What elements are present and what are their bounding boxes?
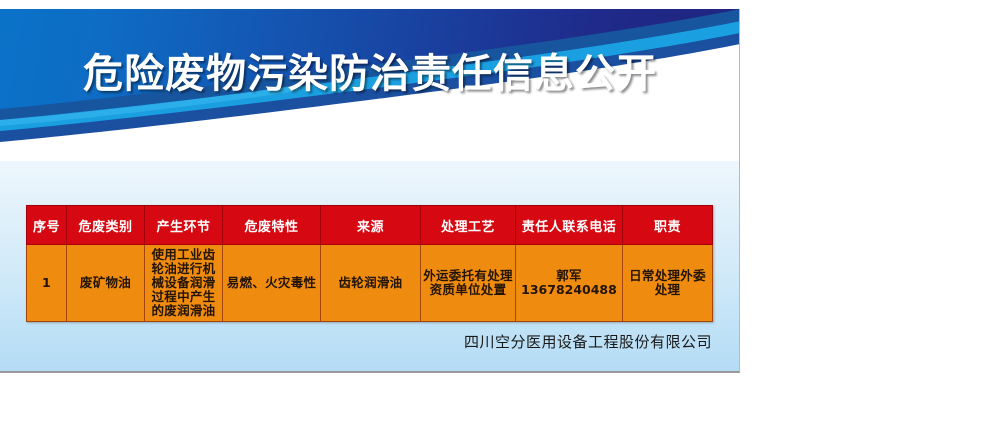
column-header-index: 序号 [27, 206, 67, 245]
cell-duty: 日常处理外委处理 [623, 245, 713, 322]
cell-generation-stage: 使用工业齿轮油进行机械设备润滑过程中产生的废润滑油 [145, 245, 223, 322]
screenshot-root: 危险废物污染防治责任信息公开 序号 危废类别 [0, 0, 1000, 442]
poster-banner: 危险废物污染防治责任信息公开 [0, 9, 740, 161]
table-row: 1 废矿物油 使用工业齿轮油进行机械设备润滑过程中产生的废润滑油 易燃、火灾毒性… [27, 245, 713, 322]
column-header-duty: 职责 [623, 206, 713, 245]
hazardous-waste-table-container: 序号 危废类别 产生环节 危废特性 来源 处理工艺 责任人联系电话 职责 1 废… [26, 205, 712, 322]
cell-index: 1 [27, 245, 67, 322]
page-title: 危险废物污染防治责任信息公开 [0, 51, 740, 97]
table-header-row: 序号 危废类别 产生环节 危废特性 来源 处理工艺 责任人联系电话 职责 [27, 206, 713, 245]
column-header-category: 危废类别 [67, 206, 145, 245]
cell-responsible-contact: 郭军 13678240488 [516, 245, 623, 322]
hazardous-waste-table: 序号 危废类别 产生环节 危废特性 来源 处理工艺 责任人联系电话 职责 1 废… [26, 205, 713, 322]
cell-source: 齿轮润滑油 [321, 245, 421, 322]
column-header-contact-phone: 责任人联系电话 [516, 206, 623, 245]
column-header-treatment: 处理工艺 [421, 206, 516, 245]
cell-treatment-process: 外运委托有处理资质单位处置 [421, 245, 516, 322]
column-header-source: 来源 [321, 206, 421, 245]
public-information-poster: 危险废物污染防治责任信息公开 序号 危废类别 [0, 9, 740, 373]
column-header-hazard-property: 危废特性 [223, 206, 321, 245]
cell-category: 废矿物油 [67, 245, 145, 322]
cell-hazard-property: 易燃、火灾毒性 [223, 245, 321, 322]
responsible-person-name: 郭军 [517, 269, 621, 283]
company-name: 四川空分医用设备工程股份有限公司 [0, 331, 712, 352]
column-header-generation-stage: 产生环节 [145, 206, 223, 245]
responsible-person-phone: 13678240488 [517, 283, 621, 297]
